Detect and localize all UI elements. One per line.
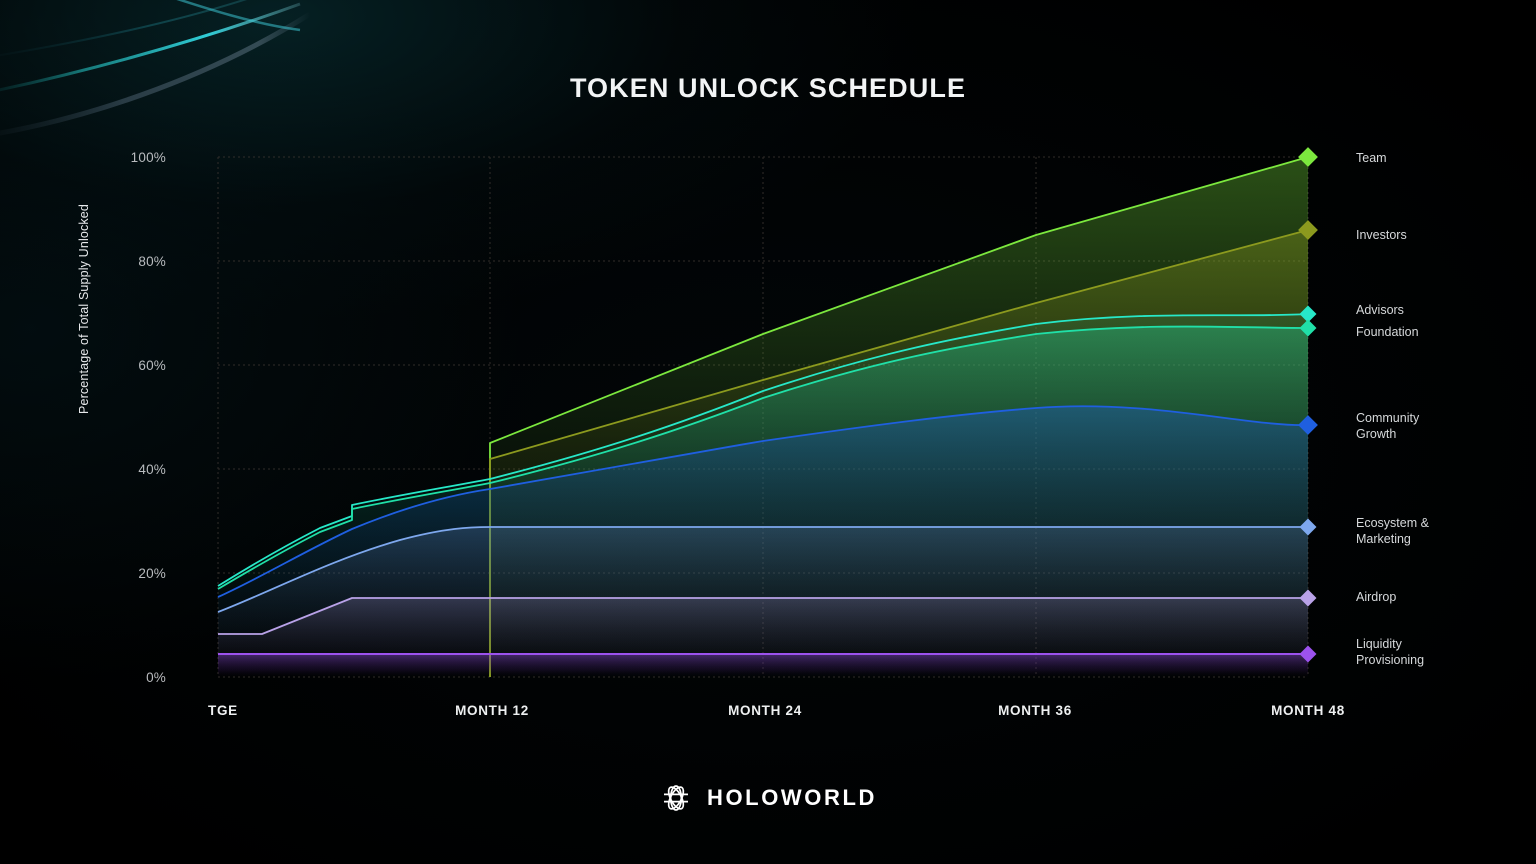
brand-name: HOLOWORLD — [707, 785, 877, 811]
line-chart-plot — [0, 0, 1536, 864]
legend-label-team: Team — [1356, 151, 1387, 165]
x-tick-month-36: MONTH 36 — [998, 703, 1072, 718]
legend-label-ecosystem: Ecosystem & — [1356, 516, 1429, 530]
legend-label-investors: Investors — [1356, 228, 1407, 242]
legend-label-community: Community — [1356, 411, 1419, 425]
legend-label-ecosystem-line2: Marketing — [1356, 531, 1429, 547]
legend-label-liquidity: Liquidity — [1356, 637, 1402, 651]
legend-label-airdrop: Airdrop — [1356, 590, 1396, 604]
legend-item-foundation: Foundation — [1356, 324, 1419, 340]
legend-item-liquidity-provisioning: Liquidity Provisioning — [1356, 636, 1424, 668]
series-liquidity-provisioning — [218, 654, 1308, 677]
brand-footer: HOLOWORLD — [0, 781, 1536, 815]
legend-item-community-growth: Community Growth — [1356, 410, 1419, 442]
holoworld-atom-icon — [659, 781, 693, 815]
legend-label-community-line2: Growth — [1356, 426, 1419, 442]
x-tick-month-12: MONTH 12 — [455, 703, 529, 718]
chart-legend: Team Investors Advisors Foundation Commu… — [1356, 0, 1536, 864]
legend-label-advisors: Advisors — [1356, 303, 1404, 317]
legend-label-liquidity-line2: Provisioning — [1356, 652, 1424, 668]
x-tick-tge: TGE — [208, 703, 238, 718]
legend-item-ecosystem-marketing: Ecosystem & Marketing — [1356, 515, 1429, 547]
legend-item-team: Team — [1356, 150, 1387, 166]
x-axis-tick-labels: TGE MONTH 12 MONTH 24 MONTH 36 MONTH 48 — [0, 703, 1536, 729]
legend-item-advisors: Advisors — [1356, 302, 1404, 318]
legend-item-investors: Investors — [1356, 227, 1407, 243]
x-tick-month-24: MONTH 24 — [728, 703, 802, 718]
legend-label-foundation: Foundation — [1356, 325, 1419, 339]
legend-item-airdrop: Airdrop — [1356, 589, 1396, 605]
x-tick-month-48: MONTH 48 — [1271, 703, 1345, 718]
